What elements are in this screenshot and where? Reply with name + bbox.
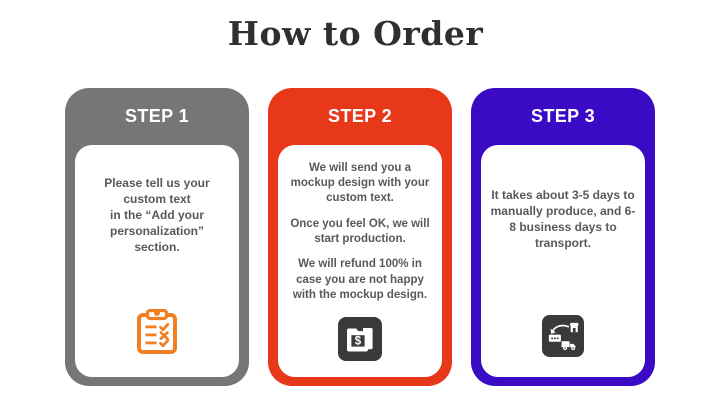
svg-text:$: $ xyxy=(355,336,362,348)
step-card-1: STEP 1 Please tell us your custom text i… xyxy=(65,88,249,386)
step-3-icon-wrap xyxy=(542,315,584,357)
clipboard-checklist-icon xyxy=(136,309,178,355)
step-card-2: STEP 2 We will send you a mockup design … xyxy=(268,88,452,386)
step-1-line-4: personalization” xyxy=(110,224,204,238)
steps-container: STEP 1 Please tell us your custom text i… xyxy=(65,88,655,386)
folder-dollar-icon: $ xyxy=(338,317,382,361)
step-2-paragraph-1: We will send you a mockup design with yo… xyxy=(286,161,434,207)
step-card-3: STEP 3 It takes about 3-5 days to manual… xyxy=(471,88,655,386)
step-2-paragraph-2: Once you feel OK, we will start producti… xyxy=(286,217,434,248)
step-2-paragraph-3: We will refund 100% in case you are not … xyxy=(286,257,434,303)
step-1-line-1: Please tell us your xyxy=(104,176,209,190)
step-1-line-2: custom text xyxy=(123,192,190,206)
step-3-text: It takes about 3-5 days to manually prod… xyxy=(489,151,637,289)
step-1-text: Please tell us your custom text in the “… xyxy=(83,151,231,281)
step-3-body: It takes about 3-5 days to manually prod… xyxy=(481,145,645,377)
step-1-line-5: section. xyxy=(134,240,179,254)
step-1-header: STEP 1 xyxy=(65,88,249,145)
step-2-text: We will send you a mockup design with yo… xyxy=(286,151,434,313)
step-1-icon-wrap xyxy=(136,309,178,355)
step-2-icon-wrap: $ xyxy=(338,317,382,361)
step-2-header: STEP 2 xyxy=(268,88,452,145)
page-title: How to Order xyxy=(0,14,711,53)
delivery-truck-shop-icon xyxy=(542,315,584,357)
step-1-line-3: in the “Add your xyxy=(110,208,204,222)
step-1-body: Please tell us your custom text in the “… xyxy=(75,145,239,377)
step-3-paragraph-1: It takes about 3-5 days to manually prod… xyxy=(489,188,637,252)
step-3-header: STEP 3 xyxy=(471,88,655,145)
step-2-body: We will send you a mockup design with yo… xyxy=(278,145,442,377)
